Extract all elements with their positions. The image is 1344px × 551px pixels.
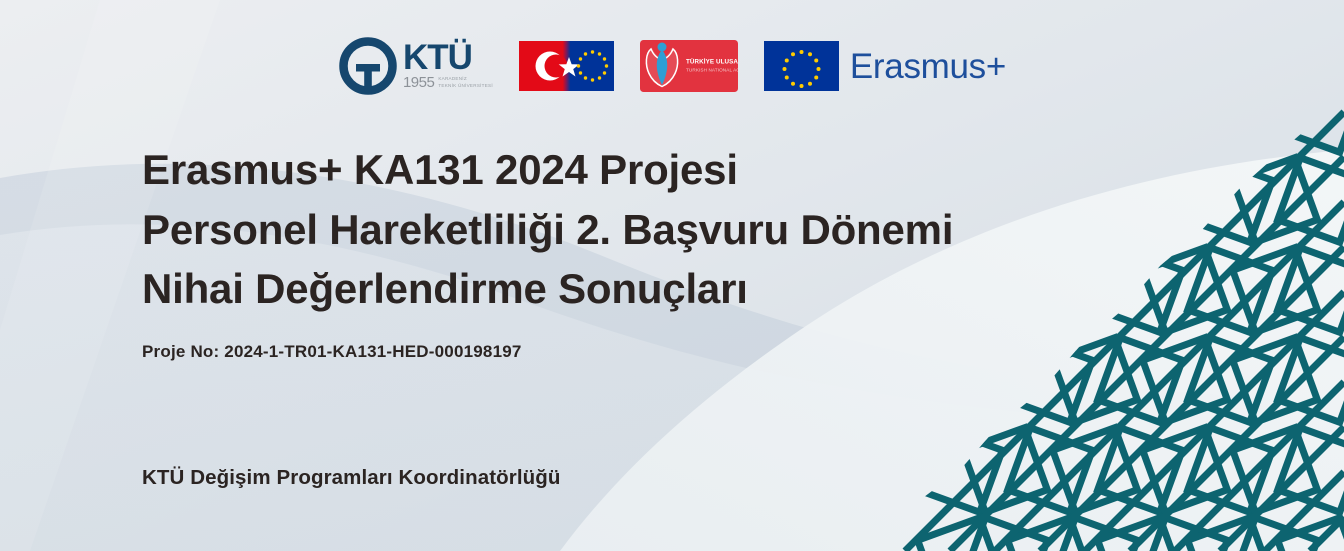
ktu-tagline-line2: TEKNİK ÜNİVERSİTESİ [438,83,493,89]
erasmus-plus-wordmark: Erasmus+ [850,49,1006,84]
ktu-tagline: KARADENİZ TEKNİK ÜNİVERSİTESİ [438,76,493,90]
national-agency-icon: TÜRKİYE ULUSAL AJANSI TURKISH NATIONAL A… [640,40,738,92]
na-text-line2: TURKISH NATIONAL AGENCY [686,68,738,73]
page-title: Erasmus+ KA131 2024 Projesi Personel Har… [142,140,1102,319]
ktu-wordmark-text: KTÜ [403,42,493,74]
title-line-1: Erasmus+ KA131 2024 Projesi [142,140,1102,200]
erasmus-plus-logo: Erasmus+ [764,33,1006,99]
logo-strip: KTÜ 1955 KARADENİZ TEKNİK ÜNİVERSİTESİ [0,33,1344,99]
turkey-eu-flag-icon [519,41,614,91]
na-text-line1: TÜRKİYE ULUSAL AJANSI [686,59,738,66]
department-name: KTÜ Değişim Programları Koordinatörlüğü [142,466,561,490]
title-line-2: Personel Hareketliliği 2. Başvuru Dönemi [142,200,1102,260]
ktu-wordmark: KTÜ 1955 KARADENİZ TEKNİK ÜNİVERSİTESİ [403,42,493,90]
title-line-3: Nihai Değerlendirme Sonuçları [142,259,1102,319]
ktu-logo: KTÜ 1955 KARADENİZ TEKNİK ÜNİVERSİTESİ [338,33,493,99]
ktu-year: 1955 [403,75,434,90]
presentation-slide: KTÜ 1955 KARADENİZ TEKNİK ÜNİVERSİTESİ [0,0,1344,551]
turkey-eu-flag [519,33,614,99]
eu-flag-icon [764,41,839,91]
project-number: Proje No: 2024-1-TR01-KA131-HED-00019819… [142,342,1102,362]
title-block: Erasmus+ KA131 2024 Projesi Personel Har… [142,140,1102,362]
ktu-emblem-icon [338,36,398,96]
turkish-national-agency-logo: TÜRKİYE ULUSAL AJANSI TURKISH NATIONAL A… [640,33,738,99]
